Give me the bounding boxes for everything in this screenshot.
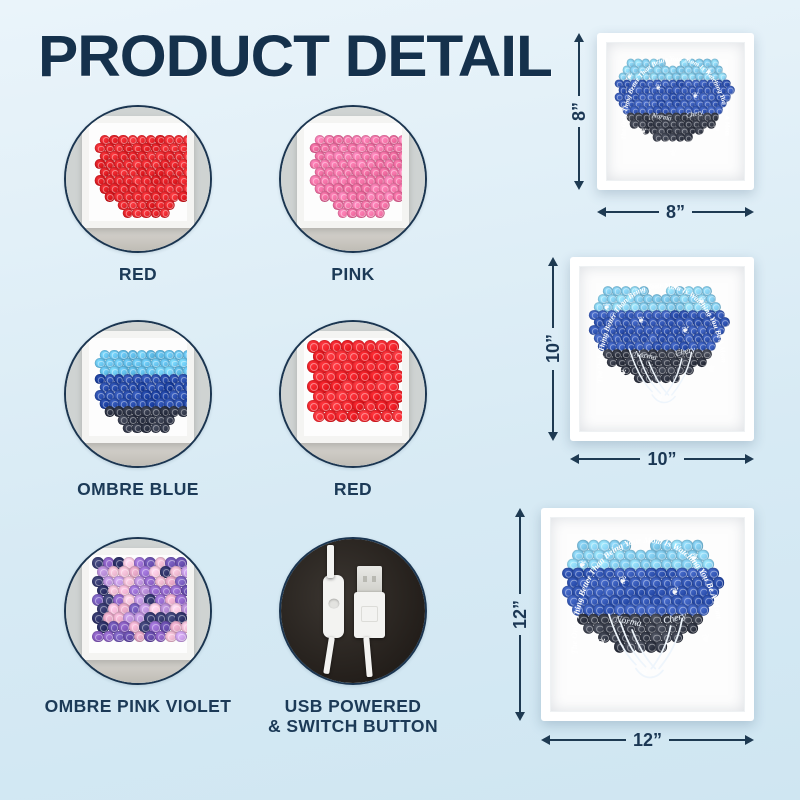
frame-mat: The Only Thing Better Than Being Your Mo…	[606, 42, 745, 181]
rose-heart-pink-icon	[279, 105, 427, 253]
dimension-line	[692, 211, 745, 213]
dimension-line	[579, 458, 640, 460]
variant-card-red[interactable]: RED	[248, 320, 458, 499]
usb-housing-detail	[361, 606, 378, 622]
table-surface	[281, 227, 425, 251]
arrow-left-icon	[570, 454, 579, 464]
variant-label: OMBRE BLUE	[33, 479, 243, 499]
shadow-box-frame	[82, 331, 194, 443]
variant-card-ombre-blue[interactable]: OMBRE BLUE	[33, 320, 243, 499]
frame-interior	[304, 338, 402, 436]
product-photo	[66, 322, 210, 466]
dimension-line	[552, 266, 554, 328]
butterfly-icon: ❦	[708, 365, 716, 374]
arrow-right-icon	[745, 735, 754, 745]
product-photo	[281, 322, 425, 466]
shadow-box-frame	[297, 116, 409, 228]
rose-petal	[369, 410, 382, 423]
rose-petal	[684, 365, 694, 375]
width-dimension-8-inch-frame: 8”	[597, 205, 754, 219]
rose-petal	[160, 423, 170, 433]
butterfly-icon: ❦	[655, 84, 662, 92]
rose-heart-ombre	[563, 532, 733, 690]
usb-cable-switch-icon	[279, 537, 427, 685]
rose-heart-ombre-blue-icon	[64, 320, 212, 468]
rose-petal	[393, 191, 402, 201]
dark-backdrop	[281, 539, 425, 683]
rose-petal	[178, 406, 187, 416]
variant-card-ombre-pink-violet[interactable]: OMBRE PINK VIOLET	[33, 537, 243, 716]
rose-petal	[392, 410, 402, 423]
dimension-line	[578, 42, 580, 96]
dimension-line	[606, 211, 659, 213]
product-photo	[281, 107, 425, 251]
rose-heart	[96, 343, 181, 428]
cable-wire	[327, 545, 333, 578]
variant-label: RED	[248, 479, 458, 499]
variant-label: RED	[33, 264, 243, 284]
rose-petal	[695, 126, 704, 135]
butterfly-icon: ❦	[640, 128, 647, 136]
rose-petal	[684, 133, 693, 142]
arrow-down-icon	[515, 712, 525, 721]
switch-button	[323, 575, 345, 638]
width-label: 10”	[640, 450, 683, 468]
arrow-left-icon	[541, 735, 550, 745]
switch-toggle	[328, 598, 339, 609]
shadow-box-10-inch-frame: The Only Thing Better Than Being Your Mo…	[570, 257, 754, 441]
rose-heart-red-icon	[64, 105, 212, 253]
rose-heart	[311, 128, 396, 213]
arrow-right-icon	[745, 454, 754, 464]
rose-heart	[96, 128, 181, 213]
butterfly-icon: ❦	[637, 316, 645, 325]
rose-petal	[671, 632, 683, 644]
frame-interior	[89, 555, 187, 653]
product-photo	[281, 539, 425, 683]
width-label: 12”	[626, 731, 669, 749]
dimension-line	[550, 739, 626, 741]
variant-card-usb-powered-switch-button[interactable]: USB POWERED& SWITCH BUTTON	[248, 537, 458, 736]
page-title: PRODUCT DETAIL	[38, 28, 552, 86]
variant-label: PINK	[248, 264, 458, 284]
height-dimension-8-inch-frame: 8”	[572, 33, 586, 190]
rose-petal	[160, 208, 170, 218]
arrow-up-icon	[548, 257, 558, 266]
shadow-box-frame	[82, 548, 194, 660]
butterfly-icon: ❦	[655, 395, 663, 404]
height-label: 12”	[511, 594, 529, 635]
product-photo	[66, 107, 210, 251]
variant-label: USB POWERED& SWITCH BUTTON	[248, 696, 458, 736]
shadow-box-12-inch-frame: The Only Thing Better Than Being Your Mo…	[541, 508, 754, 721]
butterfly-icon: ❦	[682, 326, 690, 335]
product-photo	[66, 539, 210, 683]
rose-petal	[175, 631, 187, 643]
butterfly-icon: ❦	[619, 369, 627, 378]
variant-label: OMBRE PINK VIOLET	[33, 696, 243, 716]
butterfly-icon: ❦	[597, 638, 606, 649]
width-label: 8”	[659, 203, 692, 221]
usb-connector	[357, 566, 381, 593]
height-dimension-12-inch-frame: 12”	[513, 508, 527, 721]
butterfly-icon: ❦	[640, 669, 649, 680]
variant-card-pink[interactable]: PINK	[248, 105, 458, 284]
variant-label-line: USB POWERED	[248, 696, 458, 716]
butterfly-icon: ❦	[670, 150, 677, 158]
dimension-line	[669, 739, 745, 741]
arrow-down-icon	[548, 432, 558, 441]
usb-pin	[363, 576, 367, 581]
shadow-box-frame	[82, 116, 194, 228]
variant-card-red[interactable]: RED	[33, 105, 243, 284]
rose-grid-mixed	[93, 559, 183, 649]
butterfly-icon: ❦	[626, 73, 633, 81]
rose-petal	[670, 373, 680, 383]
table-surface	[66, 442, 210, 466]
butterfly-icon: ❦	[690, 553, 699, 564]
height-label: 8”	[570, 96, 588, 127]
butterfly-icon: ❦	[714, 125, 721, 133]
arrow-down-icon	[574, 181, 584, 190]
variant-label-line: & SWITCH BUTTON	[248, 716, 458, 736]
height-label: 10”	[544, 328, 562, 369]
butterfly-icon: ❦	[706, 68, 713, 76]
frame-mat: The Only Thing Better Than Being Your Mo…	[579, 266, 745, 432]
width-dimension-12-inch-frame: 12”	[541, 733, 754, 747]
frame-interior	[89, 338, 187, 436]
arrow-up-icon	[574, 33, 584, 42]
rose-petal	[178, 191, 187, 201]
table-surface	[66, 227, 210, 251]
butterfly-icon: ❦	[698, 297, 706, 306]
rose-petal	[375, 208, 385, 218]
dimension-line	[552, 370, 554, 432]
usb-pin	[372, 576, 376, 581]
butterfly-icon: ❦	[692, 92, 699, 100]
table-surface	[66, 659, 210, 683]
frame-interior	[89, 123, 187, 221]
frame-interior	[304, 123, 402, 221]
dimension-line	[684, 458, 745, 460]
butterfly-icon: ❦	[578, 560, 587, 571]
arrow-up-icon	[515, 508, 525, 517]
arrow-right-icon	[745, 207, 754, 217]
rose-petal	[655, 641, 667, 653]
dimension-line	[578, 127, 580, 181]
butterfly-icon: ❦	[702, 634, 711, 645]
rose-square-pink-violet-icon	[64, 537, 212, 685]
width-dimension-10-inch-frame: 10”	[570, 452, 754, 466]
usb-housing	[354, 592, 384, 638]
butterfly-icon: ❦	[619, 576, 628, 587]
dimension-line	[519, 635, 521, 712]
shadow-box-8-inch-frame: The Only Thing Better Than Being Your Mo…	[597, 33, 754, 190]
rose-square-red-icon	[279, 320, 427, 468]
height-dimension-10-inch-frame: 10”	[546, 257, 560, 441]
table-surface	[281, 442, 425, 466]
shadow-box-frame	[297, 331, 409, 443]
butterfly-icon: ❦	[671, 587, 680, 598]
rose-petal	[697, 357, 707, 367]
arrow-left-icon	[597, 207, 606, 217]
rose-grid	[308, 342, 398, 432]
rose-petal	[687, 622, 699, 634]
dimension-line	[519, 517, 521, 594]
butterfly-icon: ❦	[603, 303, 611, 312]
frame-mat: The Only Thing Better Than Being Your Mo…	[550, 517, 745, 712]
